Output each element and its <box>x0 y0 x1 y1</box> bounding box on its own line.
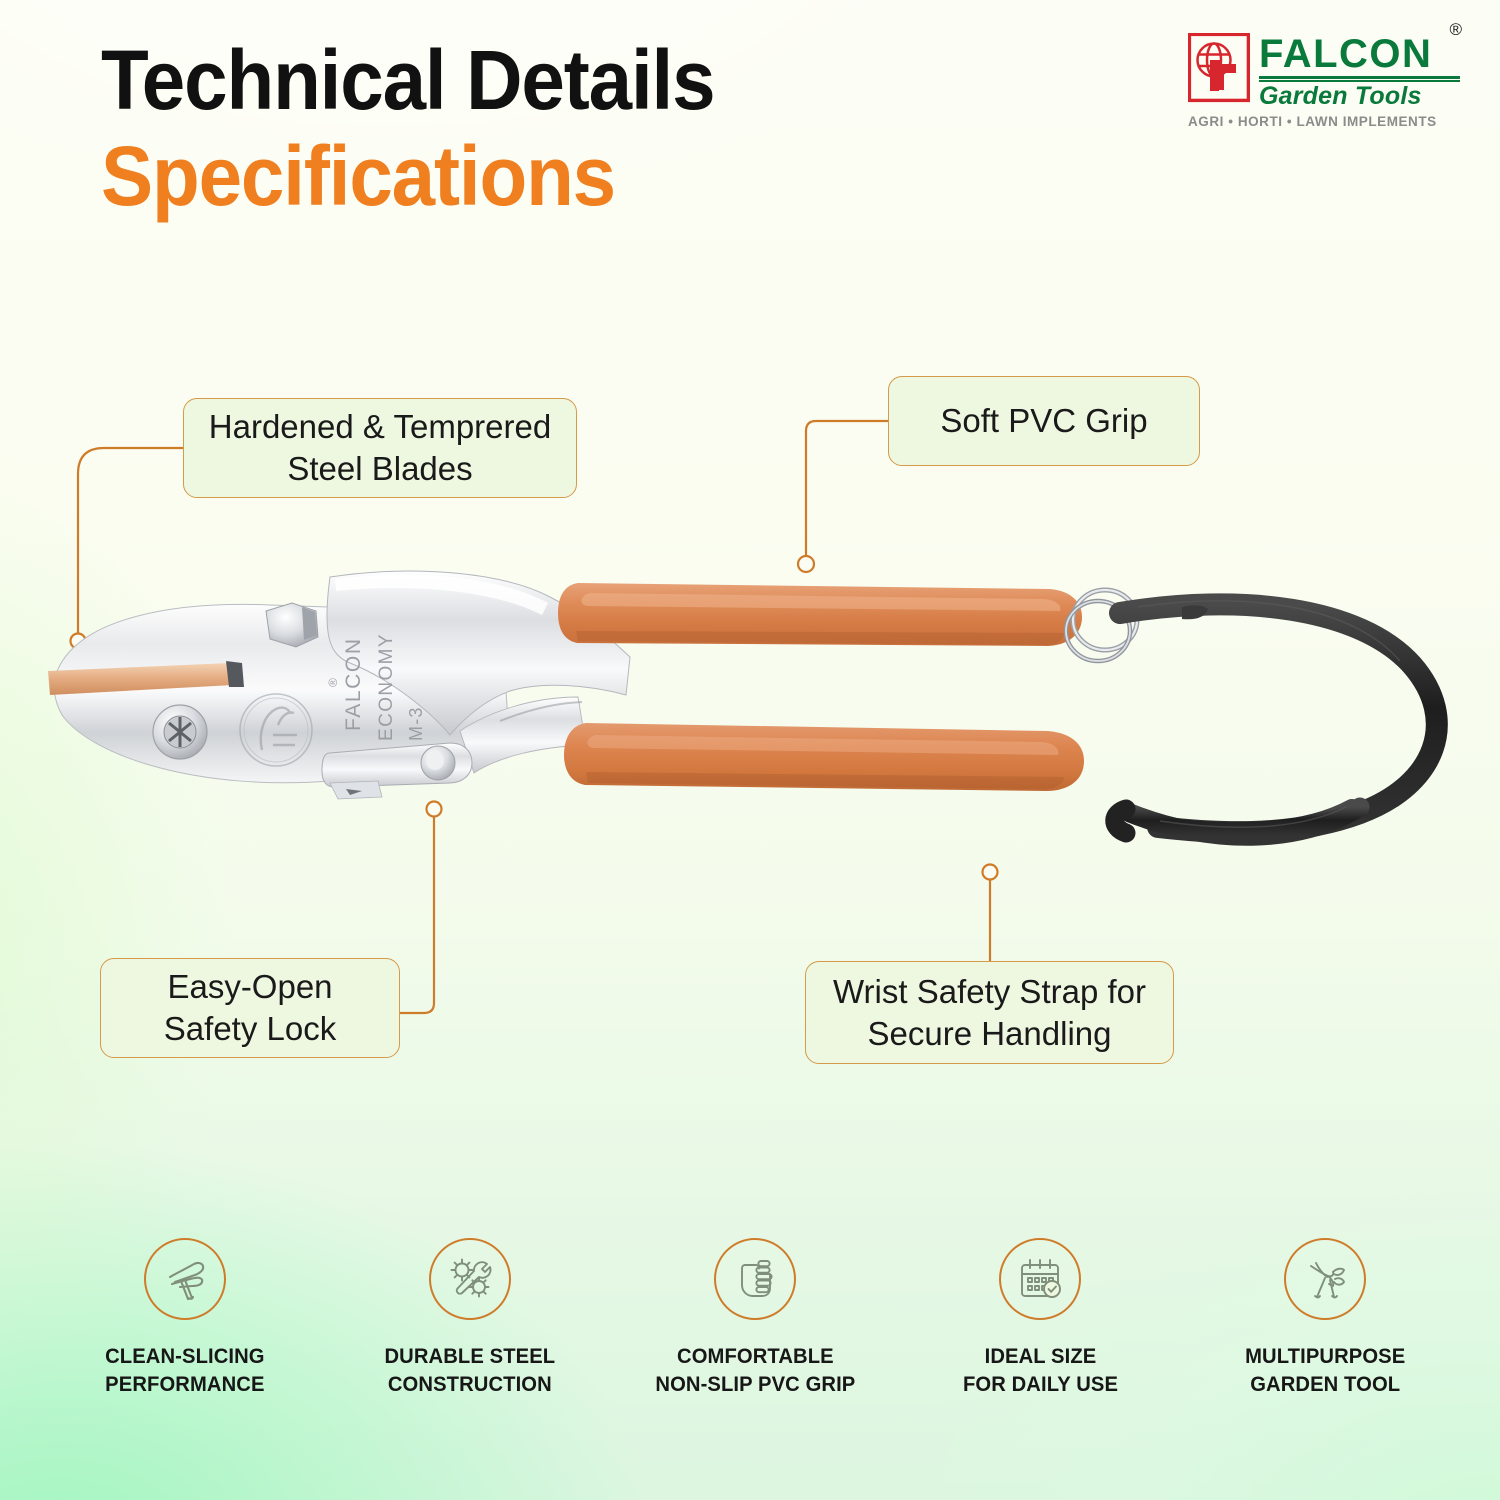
feature-item: MULTIPURPOSE GARDEN TOOL <box>1200 1238 1450 1428</box>
product-image-pruning-shears: FALCON ECONOMY M-3 ® <box>30 545 1450 875</box>
engraving-economy: ECONOMY <box>376 633 397 741</box>
engraving-registered: ® <box>326 678 340 687</box>
feature-label: CLEAN-SLICING PERFORMANCE <box>105 1342 265 1399</box>
engraving-brand: FALCON <box>342 637 365 731</box>
feature-item: DURABLE STEEL CONSTRUCTION <box>345 1238 595 1428</box>
gripping-hand-icon <box>714 1238 796 1320</box>
feature-item: IDEAL SIZE FOR DAILY USE <box>915 1238 1165 1428</box>
feature-label: IDEAL SIZE FOR DAILY USE <box>962 1342 1117 1399</box>
engraving-model: M-3 <box>406 706 426 741</box>
callout-soft-pvc-grip[interactable]: Soft PVC Grip <box>888 376 1200 466</box>
gear-wrench-icon <box>429 1238 511 1320</box>
feature-strip: CLEAN-SLICING PERFORMANCE DURABLE STEEL … <box>60 1238 1450 1428</box>
feature-item: CLEAN-SLICING PERFORMANCE <box>60 1238 310 1428</box>
feature-label: DURABLE STEEL CONSTRUCTION <box>385 1342 556 1399</box>
callout-wrist-strap[interactable]: Wrist Safety Strap for Secure Handling <box>805 961 1174 1064</box>
calendar-check-icon <box>999 1238 1081 1320</box>
shears-leaf-icon <box>1284 1238 1366 1320</box>
feature-label: COMFORTABLE NON-SLIP PVC GRIP <box>655 1342 855 1399</box>
pruning-shears-icon <box>144 1238 226 1320</box>
feature-item: COMFORTABLE NON-SLIP PVC GRIP <box>630 1238 880 1428</box>
callout-hardened-blades[interactable]: Hardened & Temprered Steel Blades <box>183 398 577 498</box>
callout-safety-lock[interactable]: Easy-Open Safety Lock <box>100 958 400 1058</box>
feature-label: MULTIPURPOSE GARDEN TOOL <box>1245 1342 1405 1399</box>
